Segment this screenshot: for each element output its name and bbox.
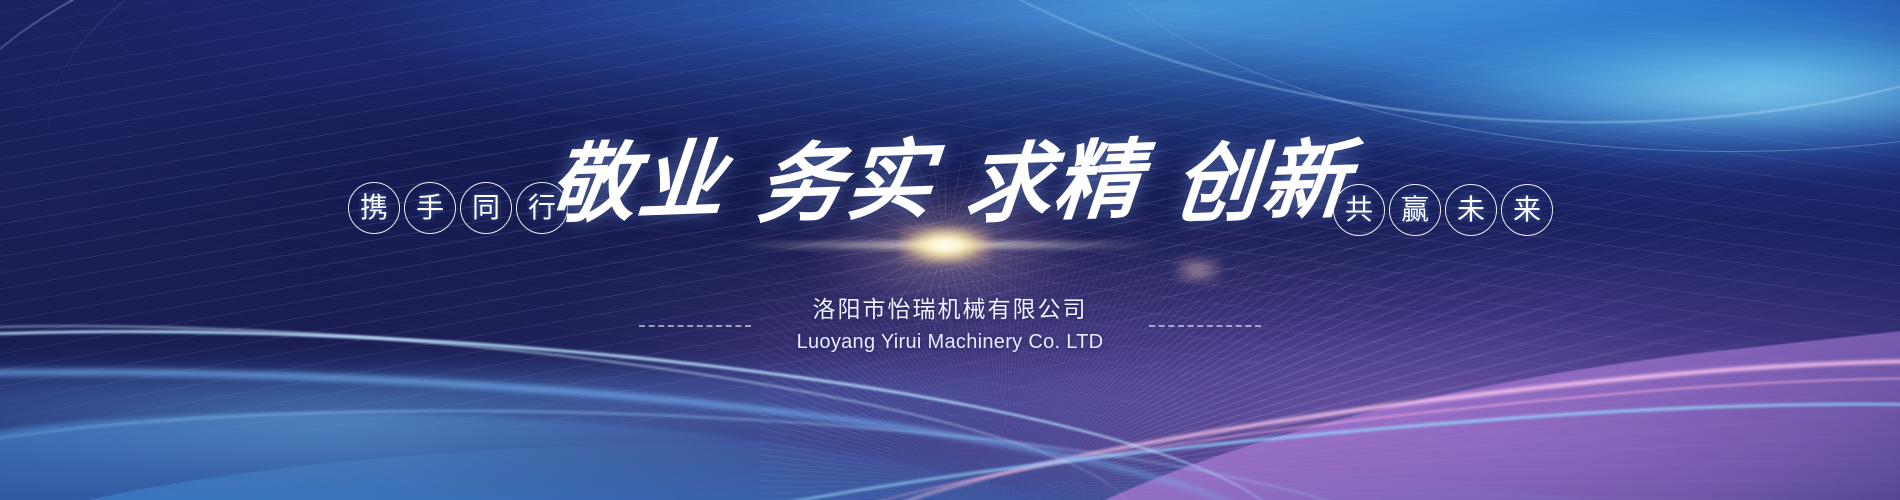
slogan-word-jingye: 敬业	[550, 140, 726, 226]
dashed-rule-left	[639, 325, 751, 327]
dashed-rule-right	[1149, 325, 1261, 327]
banner-content: 携 手 同 行 敬业务实求精创新 共 赢 未 来 洛阳市怡瑞机械有限公司 Luo…	[0, 0, 1900, 500]
circled-char-ying: 赢	[1389, 184, 1441, 236]
circled-char-wei: 未	[1445, 184, 1497, 236]
circled-phrase-right: 共 赢 未 来	[1333, 184, 1553, 236]
company-name-cn: 洛阳市怡瑞机械有限公司	[797, 296, 1104, 325]
company-name-en: Luoyang Yirui Machinery Co. LTD	[797, 330, 1104, 356]
corporate-culture-banner: 携 手 同 行 敬业务实求精创新 共 赢 未 来 洛阳市怡瑞机械有限公司 Luo…	[0, 0, 1900, 500]
circled-char-lai: 来	[1501, 184, 1553, 236]
circled-char-gong: 共	[1333, 184, 1385, 236]
company-identity-block: 洛阳市怡瑞机械有限公司 Luoyang Yirui Machinery Co. …	[0, 296, 1900, 356]
company-names: 洛阳市怡瑞机械有限公司 Luoyang Yirui Machinery Co. …	[797, 296, 1104, 356]
slogan-word-wushi: 务实	[758, 140, 934, 226]
slogan-word-chuangxin: 创新	[1174, 140, 1350, 226]
slogan-word-qiujing: 求精	[966, 140, 1142, 226]
main-slogan: 敬业务实求精创新	[0, 140, 1900, 226]
